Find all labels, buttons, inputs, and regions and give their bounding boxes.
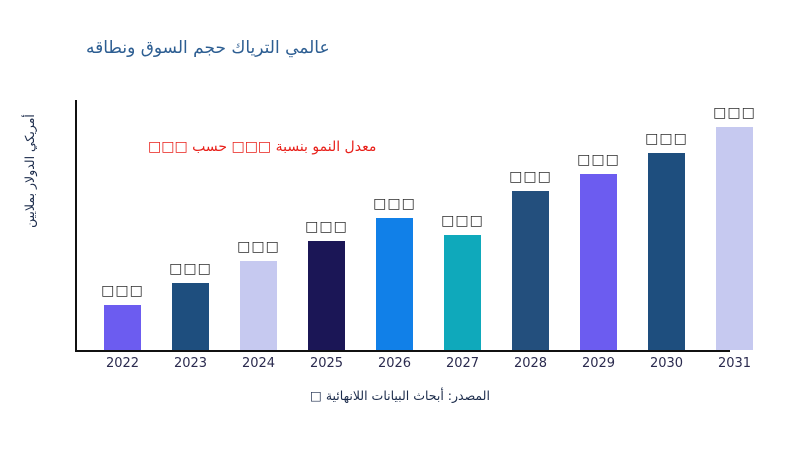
x-tick-2027: 2027 bbox=[444, 356, 481, 371]
bar-2025[interactable] bbox=[308, 241, 345, 350]
x-tick-2031: 2031 bbox=[716, 356, 753, 371]
bar-2022[interactable] bbox=[104, 305, 141, 350]
bar-group-2023[interactable]: □□□ bbox=[172, 283, 209, 350]
y-axis-label-wrapper: أمريكي الدولار بملايين bbox=[22, 66, 44, 276]
bar-group-2031[interactable]: □□□ bbox=[716, 127, 753, 350]
bar-value-label-2027: □□□ bbox=[441, 213, 484, 229]
chart-title: عالمي الترياك حجم السوق ونطاقه bbox=[86, 38, 330, 58]
bar-group-2028[interactable]: □□□ bbox=[512, 191, 549, 350]
bar-value-label-2030: □□□ bbox=[645, 131, 688, 147]
x-tick-2026: 2026 bbox=[376, 356, 413, 371]
bar-group-2027[interactable]: □□□ bbox=[444, 235, 481, 350]
bar-value-label-2024: □□□ bbox=[237, 239, 280, 255]
bar-value-label-2029: □□□ bbox=[577, 152, 620, 168]
x-tick-2030: 2030 bbox=[648, 356, 685, 371]
bar-2027[interactable] bbox=[444, 235, 481, 350]
bar-group-2026[interactable]: □□□ bbox=[376, 218, 413, 350]
bar-2030[interactable] bbox=[648, 153, 685, 350]
bar-value-label-2023: □□□ bbox=[169, 261, 212, 277]
x-axis-line bbox=[75, 350, 730, 352]
bar-group-2024[interactable]: □□□ bbox=[240, 261, 277, 350]
bar-2029[interactable] bbox=[580, 174, 617, 350]
bar-2023[interactable] bbox=[172, 283, 209, 350]
x-tick-2024: 2024 bbox=[240, 356, 277, 371]
bar-value-label-2022: □□□ bbox=[101, 283, 144, 299]
bar-group-2022[interactable]: □□□ bbox=[104, 305, 141, 350]
bar-group-2029[interactable]: □□□ bbox=[580, 174, 617, 350]
bar-2024[interactable] bbox=[240, 261, 277, 350]
bar-value-label-2028: □□□ bbox=[509, 169, 552, 185]
bar-value-label-2031: □□□ bbox=[713, 105, 756, 121]
source-caption: المصدر: أبحاث البيانات اللانهائية □ bbox=[0, 388, 800, 403]
bar-value-label-2025: □□□ bbox=[305, 219, 348, 235]
x-tick-2025: 2025 bbox=[308, 356, 345, 371]
x-tick-2029: 2029 bbox=[580, 356, 617, 371]
bar-group-2030[interactable]: □□□ bbox=[648, 153, 685, 350]
bar-value-label-2026: □□□ bbox=[373, 196, 416, 212]
y-axis-label: أمريكي الدولار بملايين bbox=[22, 66, 37, 276]
x-tick-2022: 2022 bbox=[104, 356, 141, 371]
x-axis-tick-labels: 2022202320242025202620272028202920302031 bbox=[75, 356, 800, 378]
bar-2026[interactable] bbox=[376, 218, 413, 350]
bar-2031[interactable] bbox=[716, 127, 753, 350]
chart-container: عالمي الترياك حجم السوق ونطاقه أمريكي ال… bbox=[0, 0, 800, 450]
bar-2028[interactable] bbox=[512, 191, 549, 350]
x-tick-2028: 2028 bbox=[512, 356, 549, 371]
x-tick-2023: 2023 bbox=[172, 356, 209, 371]
bar-series: □□□□□□□□□□□□□□□□□□□□□□□□□□□□□□ bbox=[75, 100, 800, 350]
bar-group-2025[interactable]: □□□ bbox=[308, 241, 345, 350]
